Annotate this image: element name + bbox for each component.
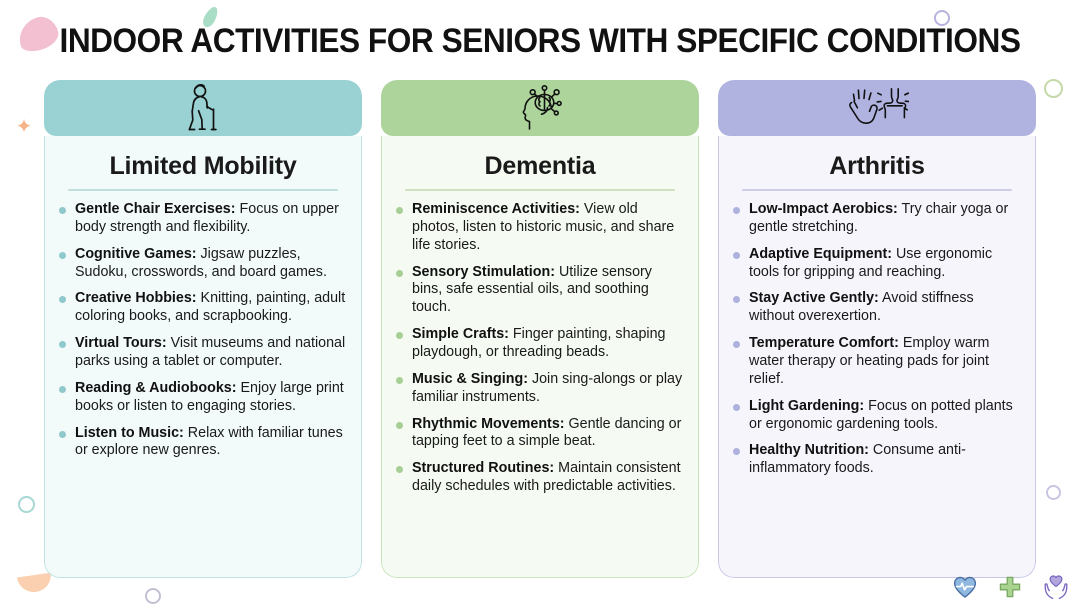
list-item-lead: Sensory Stimulation: [412,264,555,280]
elderly-person-with-cane-icon [180,82,226,134]
list-item-lead: Reading & Audiobooks: [75,380,237,396]
list-item-lead: Creative Hobbies: [75,290,197,306]
list-item: Virtual Tours: Visit museums and nationa… [59,335,347,371]
heart-with-pulse-icon [952,575,978,599]
card-divider [405,189,676,191]
activity-list-dementia: Reminiscence Activities: View old photos… [396,201,684,496]
hands-holding-heart-icon [1042,574,1070,600]
list-item: Low-Impact Aerobics: Try chair yoga or g… [733,201,1021,237]
card-title-dementia: Dementia [396,152,684,181]
bullet-dot [396,466,403,473]
activity-list-limited-mobility: Gentle Chair Exercises: Focus on upper b… [59,201,347,460]
list-item: Temperature Comfort: Employ warm water t… [733,335,1021,389]
list-item-lead: Stay Active Gently: [749,290,879,306]
list-item: Sensory Stimulation: Utilize sensory bin… [396,264,684,318]
page-title: INDOOR ACTIVITIES FOR SENIORS WITH SPECI… [38,22,1042,61]
bullet-dot [733,404,740,411]
bullet-dot [733,448,740,455]
teal-ring-decoration [18,496,35,513]
card-divider [68,189,339,191]
list-item: Cognitive Games: Jigsaw puzzles, Sudoku,… [59,246,347,282]
bullet-dot [396,207,403,214]
list-item: Rhythmic Movements: Gentle dancing or ta… [396,416,684,452]
card-divider [742,189,1013,191]
bullet-dot [59,296,66,303]
list-item-lead: Rhythmic Movements: [412,416,565,432]
card-header-arthritis [718,80,1036,136]
bullet-dot [59,341,66,348]
card-header-dementia [381,80,699,136]
list-item: Healthy Nutrition: Consume anti-inflamma… [733,442,1021,478]
list-item-lead: Adaptive Equipment: [749,246,892,262]
bullet-dot [733,341,740,348]
bullet-dot [396,270,403,277]
bullet-dot [59,252,66,259]
hand-and-painful-joint-icon [845,84,909,132]
list-item-lead: Simple Crafts: [412,326,509,342]
card-header-limited-mobility [44,80,362,136]
bullet-dot [733,207,740,214]
list-item-lead: Gentle Chair Exercises: [75,201,236,217]
green-ring-decoration [1044,79,1063,98]
list-item: Structured Routines: Maintain consistent… [396,460,684,496]
footer-icon-row [952,574,1070,600]
list-item: Stay Active Gently: Avoid stiffness with… [733,290,1021,326]
list-item-lead: Light Gardening: [749,398,864,414]
list-item: Light Gardening: Focus on potted plants … [733,398,1021,434]
lilac-ring-decoration [1046,485,1061,500]
list-item-lead: Reminiscence Activities: [412,201,580,217]
list-item: Simple Crafts: Finger painting, shaping … [396,326,684,362]
bullet-dot [59,386,66,393]
list-item: Reminiscence Activities: View old photos… [396,201,684,255]
bullet-dot [733,296,740,303]
list-item-lead: Temperature Comfort: [749,335,899,351]
card-body-arthritis: Arthritis Low-Impact Aerobics: Try chair… [718,136,1036,578]
list-item-lead: Listen to Music: [75,425,184,441]
list-item-lead: Structured Routines: [412,460,554,476]
activity-list-arthritis: Low-Impact Aerobics: Try chair yoga or g… [733,201,1021,478]
card-dementia: Dementia Reminiscence Activities: View o… [381,80,699,578]
card-limited-mobility: Limited Mobility Gentle Chair Exercises:… [44,80,362,578]
list-item-lead: Healthy Nutrition: [749,442,869,458]
list-item: Listen to Music: Relax with familiar tun… [59,425,347,461]
head-with-brain-icon [514,83,566,133]
card-body-dementia: Dementia Reminiscence Activities: View o… [381,136,699,578]
list-item: Gentle Chair Exercises: Focus on upper b… [59,201,347,237]
bullet-dot [396,422,403,429]
list-item-lead: Cognitive Games: [75,246,197,262]
bullet-dot [396,332,403,339]
orange-star-decoration: ✦ [14,117,34,137]
card-title-arthritis: Arthritis [733,152,1021,181]
list-item-lead: Low-Impact Aerobics: [749,201,898,217]
bullet-dot [733,252,740,259]
list-item: Music & Singing: Join sing-alongs or pla… [396,371,684,407]
list-item-lead: Music & Singing: [412,371,528,387]
bullet-dot [396,377,403,384]
list-item: Adaptive Equipment: Use ergonomic tools … [733,246,1021,282]
bullet-dot [59,431,66,438]
medical-cross-icon [999,576,1021,598]
list-item: Creative Hobbies: Knitting, painting, ad… [59,290,347,326]
card-title-limited-mobility: Limited Mobility [59,152,347,181]
bullet-dot [59,207,66,214]
card-arthritis: Arthritis Low-Impact Aerobics: Try chair… [718,80,1036,578]
list-item-lead: Virtual Tours: [75,335,167,351]
card-body-limited-mobility: Limited Mobility Gentle Chair Exercises:… [44,136,362,578]
condition-cards-row: Limited Mobility Gentle Chair Exercises:… [44,80,1036,578]
list-item: Reading & Audiobooks: Enjoy large print … [59,380,347,416]
